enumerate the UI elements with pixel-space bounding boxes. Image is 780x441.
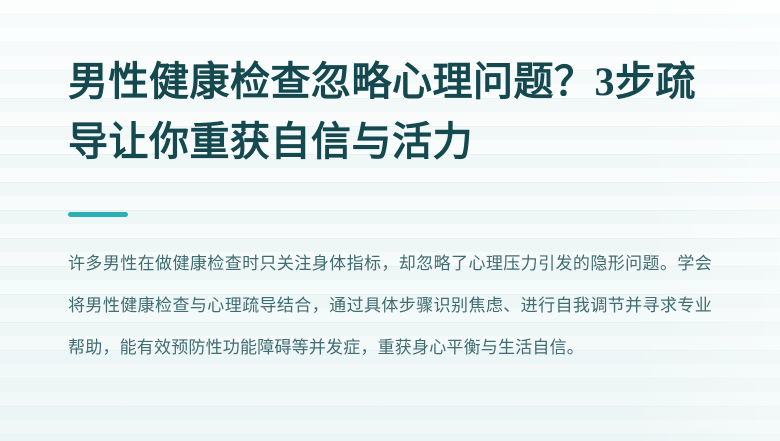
article-summary-text: 许多男性在做健康检查时只关注身体指标，却忽略了心理压力引发的隐形问题。学会将男性… (68, 217, 712, 369)
article-title: 男性健康检查忽略心理问题？3步疏导让你重获自信与活力 (68, 0, 712, 172)
article-banner-card: 男性健康检查忽略心理问题？3步疏导让你重获自信与活力 许多男性在做健康检查时只关… (0, 0, 780, 441)
card-content: 男性健康检查忽略心理问题？3步疏导让你重获自信与活力 许多男性在做健康检查时只关… (0, 0, 780, 369)
